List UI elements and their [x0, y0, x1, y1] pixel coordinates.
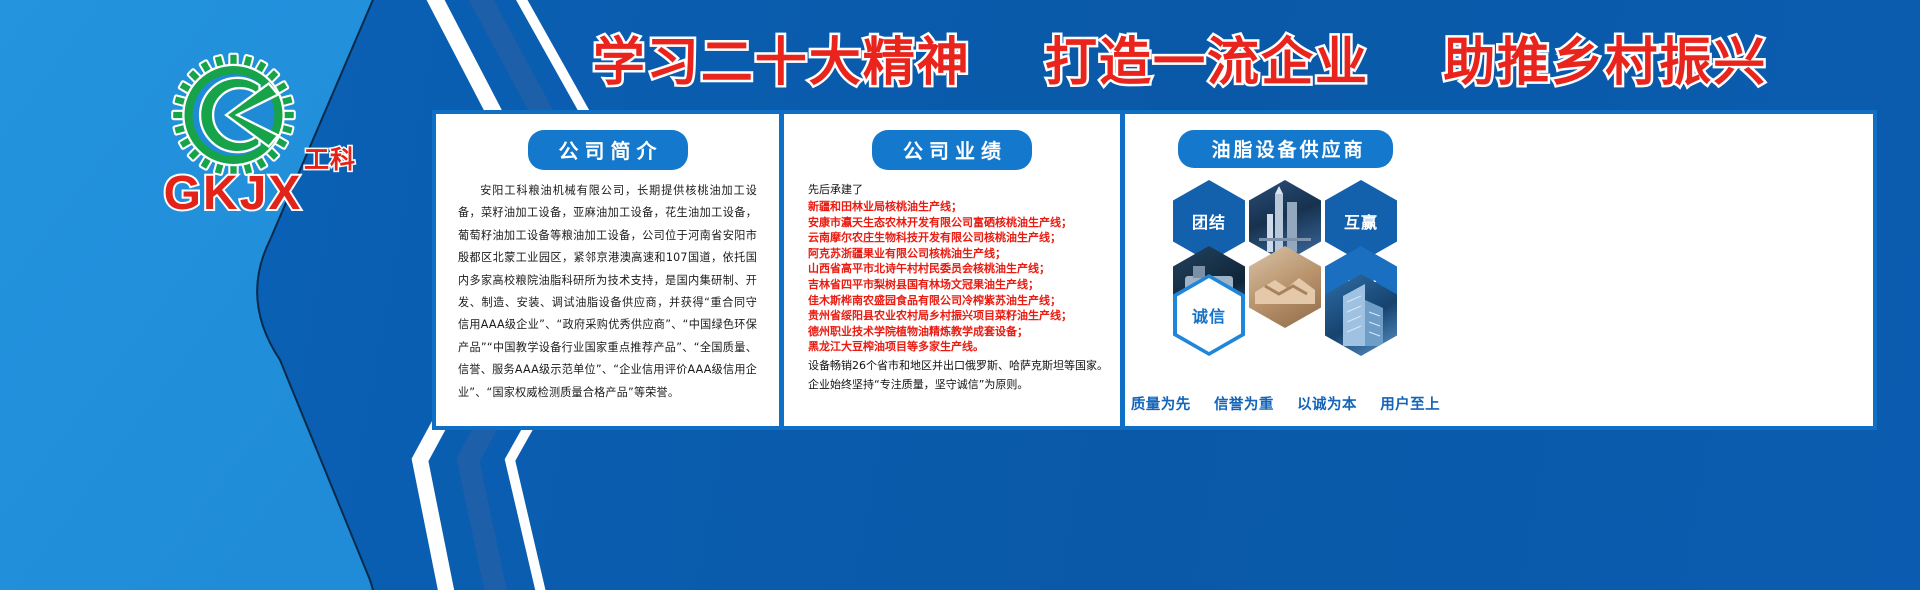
slogan-part: 质量为先: [1131, 397, 1191, 413]
hex-label: 互赢: [1344, 209, 1378, 233]
banner-root: 工科 GKJX 学习二十大精神 打造一流企业 助推乡村振兴 公司简介 安阳工科粮…: [0, 0, 1920, 590]
performance-list: 先后承建了 新疆和田林业局核桃油生产线； 安康市瀛天生态农林开发有限公司富硒核桃…: [808, 182, 1120, 393]
hexagon-cluster: 团结 互赢 创新: [1125, 174, 1446, 360]
card-performance-title: 公司业绩: [872, 130, 1032, 170]
hex-label: 团结: [1192, 209, 1226, 233]
card-company-performance: 公司业绩 先后承建了 新疆和田林业局核桃油生产线； 安康市瀛天生态农林开发有限公…: [784, 114, 1120, 426]
performance-item: 德州职业技术学院植物油精炼教学成套设备；: [808, 324, 1120, 340]
page-title: 学习二十大精神 打造一流企业 助推乡村振兴: [470, 20, 1890, 95]
slogan-part: 以诚为本: [1297, 397, 1357, 413]
performance-item: 新疆和田林业局核桃油生产线；: [808, 199, 1120, 215]
performance-item: 吉林省四平市梨树县国有林场文冠果油生产线；: [808, 277, 1120, 293]
logo-latin-text: GKJX: [128, 170, 338, 218]
performance-item: 佳木斯桦南农盛园食品有限公司冷榨紫苏油生产线；: [808, 293, 1120, 309]
slogan-part: 用户至上: [1380, 397, 1440, 413]
performance-item: 黑龙江大豆榨油项目等多家生产线。: [808, 339, 1120, 355]
performance-item: 阿克苏浙疆果业有限公司核桃油生产线；: [808, 246, 1120, 262]
performance-lead: 先后承建了: [808, 182, 1120, 198]
performance-item: 安康市瀛天生态农林开发有限公司富硒核桃油生产线；: [808, 215, 1120, 231]
card-intro-title: 公司简介: [528, 130, 688, 170]
hex-label: 诚信: [1192, 303, 1226, 327]
performance-tail: 设备畅销26个省市和地区并出口俄罗斯、哈萨克斯坦等国家。: [808, 358, 1120, 374]
gear-logo-icon: [166, 50, 301, 180]
card-right-filler: [1446, 114, 1873, 426]
performance-item: 云南摩尔农庄生物科技开发有限公司核桃油生产线；: [808, 230, 1120, 246]
handshake-photo-icon: [1249, 246, 1321, 328]
card-intro-body: 安阳工科粮油机械有限公司，长期提供核桃油加工设备，菜籽油加工设备，亚麻油加工设备…: [458, 180, 757, 404]
supplier-slogan: 质量为先 信誉为重 以诚为本 用户至上: [1125, 393, 1446, 414]
performance-item: 贵州省绥阳县农业农村局乡村振兴项目菜籽油生产线；: [808, 308, 1120, 324]
card-supplier-title: 油脂设备供应商: [1178, 130, 1393, 168]
card-equipment-supplier: 油脂设备供应商 团结 互赢: [1125, 114, 1446, 426]
slogan-part: 信誉为重: [1214, 397, 1274, 413]
performance-tail: 企业始终坚持“专注质量，坚守诚信”为原则。: [808, 377, 1120, 393]
headline-part-1: 学习二十大精神: [593, 33, 971, 93]
performance-item: 山西省高平市北诗午村村民委员会核桃油生产线；: [808, 261, 1120, 277]
card-company-intro: 公司简介 安阳工科粮油机械有限公司，长期提供核桃油加工设备，菜籽油加工设备，亚麻…: [436, 114, 779, 426]
headline-part-2: 打造一流企业: [1045, 33, 1369, 93]
headline-part-3: 助推乡村振兴: [1443, 33, 1767, 93]
cards-container: 公司简介 安阳工科粮油机械有限公司，长期提供核桃油加工设备，菜籽油加工设备，亚麻…: [432, 110, 1877, 430]
company-logo: 工科 GKJX: [128, 50, 338, 220]
